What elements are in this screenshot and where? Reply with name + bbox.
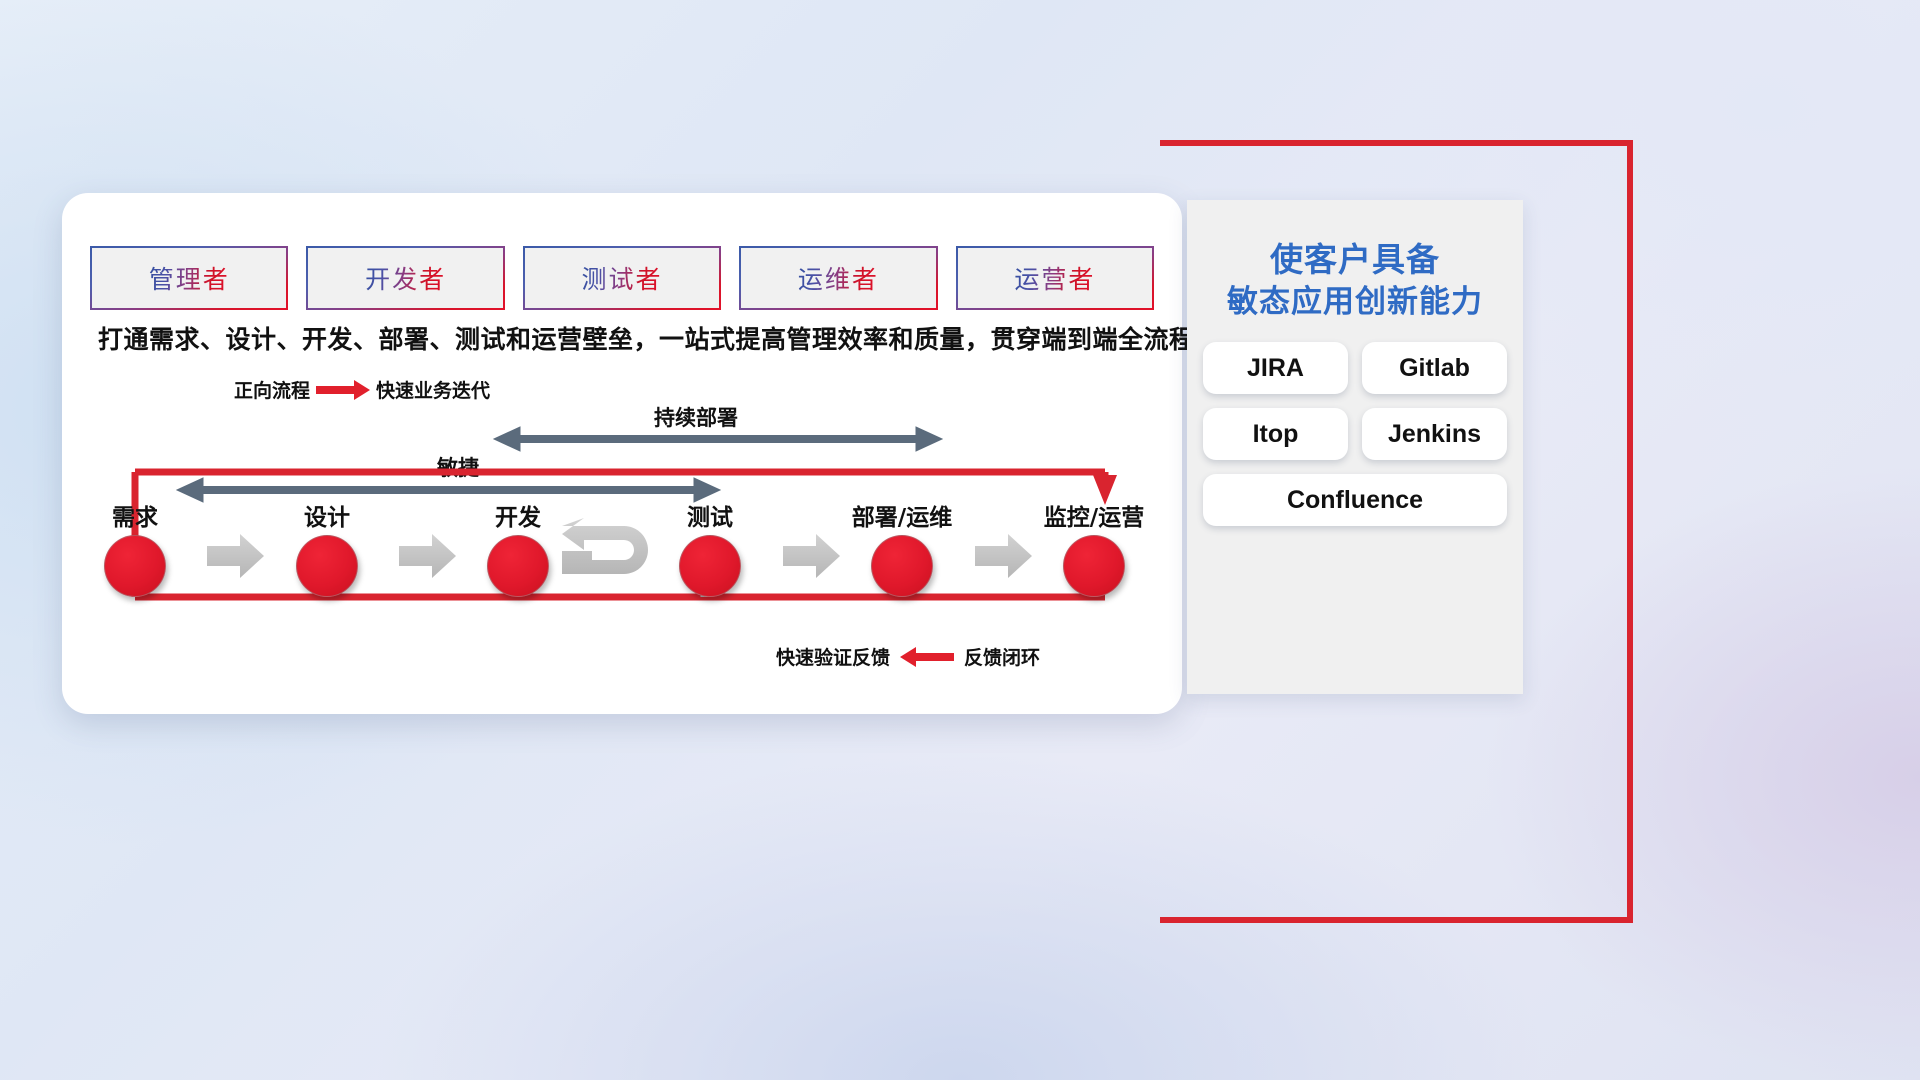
role-boxes-row: 管理者 开发者 测试者 运维者 运营者	[92, 248, 1152, 308]
main-diagram-card: 管理者 开发者 测试者 运维者 运营者 打通需求、设计、开发、部署、测试和运营壁…	[62, 193, 1182, 714]
tool-jenkins[interactable]: Jenkins	[1362, 408, 1507, 460]
role-box-operations[interactable]: 运营者	[958, 248, 1152, 308]
panel-title-line2: 敏态应用创新能力	[1187, 282, 1523, 323]
role-box-tester[interactable]: 测试者	[525, 248, 719, 308]
tool-jira[interactable]: JIRA	[1203, 342, 1348, 394]
panel-title: 使客户具备 敏态应用创新能力	[1187, 200, 1523, 322]
role-label: 开发者	[365, 260, 446, 296]
role-label: 测试者	[582, 260, 663, 296]
gray-arrow-icon	[399, 534, 456, 578]
role-label: 管理者	[149, 260, 230, 296]
role-box-ops[interactable]: 运维者	[741, 248, 935, 308]
gray-arrow-icon	[975, 534, 1032, 578]
tool-itop[interactable]: Itop	[1203, 408, 1348, 460]
gray-arrow-icon	[783, 534, 840, 578]
capability-panel: 使客户具备 敏态应用创新能力 JIRA Gitlab Itop Jenkins …	[1187, 200, 1523, 694]
gray-arrow-icon	[207, 534, 264, 578]
role-label: 运维者	[798, 260, 879, 296]
panel-title-line1: 使客户具备	[1187, 238, 1523, 282]
rework-loop-icon	[562, 518, 648, 574]
tool-confluence[interactable]: Confluence	[1203, 474, 1507, 526]
role-box-developer[interactable]: 开发者	[308, 248, 502, 308]
tool-gitlab[interactable]: Gitlab	[1362, 342, 1507, 394]
role-label: 运营者	[1014, 260, 1095, 296]
tool-list: JIRA Gitlab Itop Jenkins Confluence	[1187, 322, 1523, 526]
role-box-manager[interactable]: 管理者	[92, 248, 286, 308]
